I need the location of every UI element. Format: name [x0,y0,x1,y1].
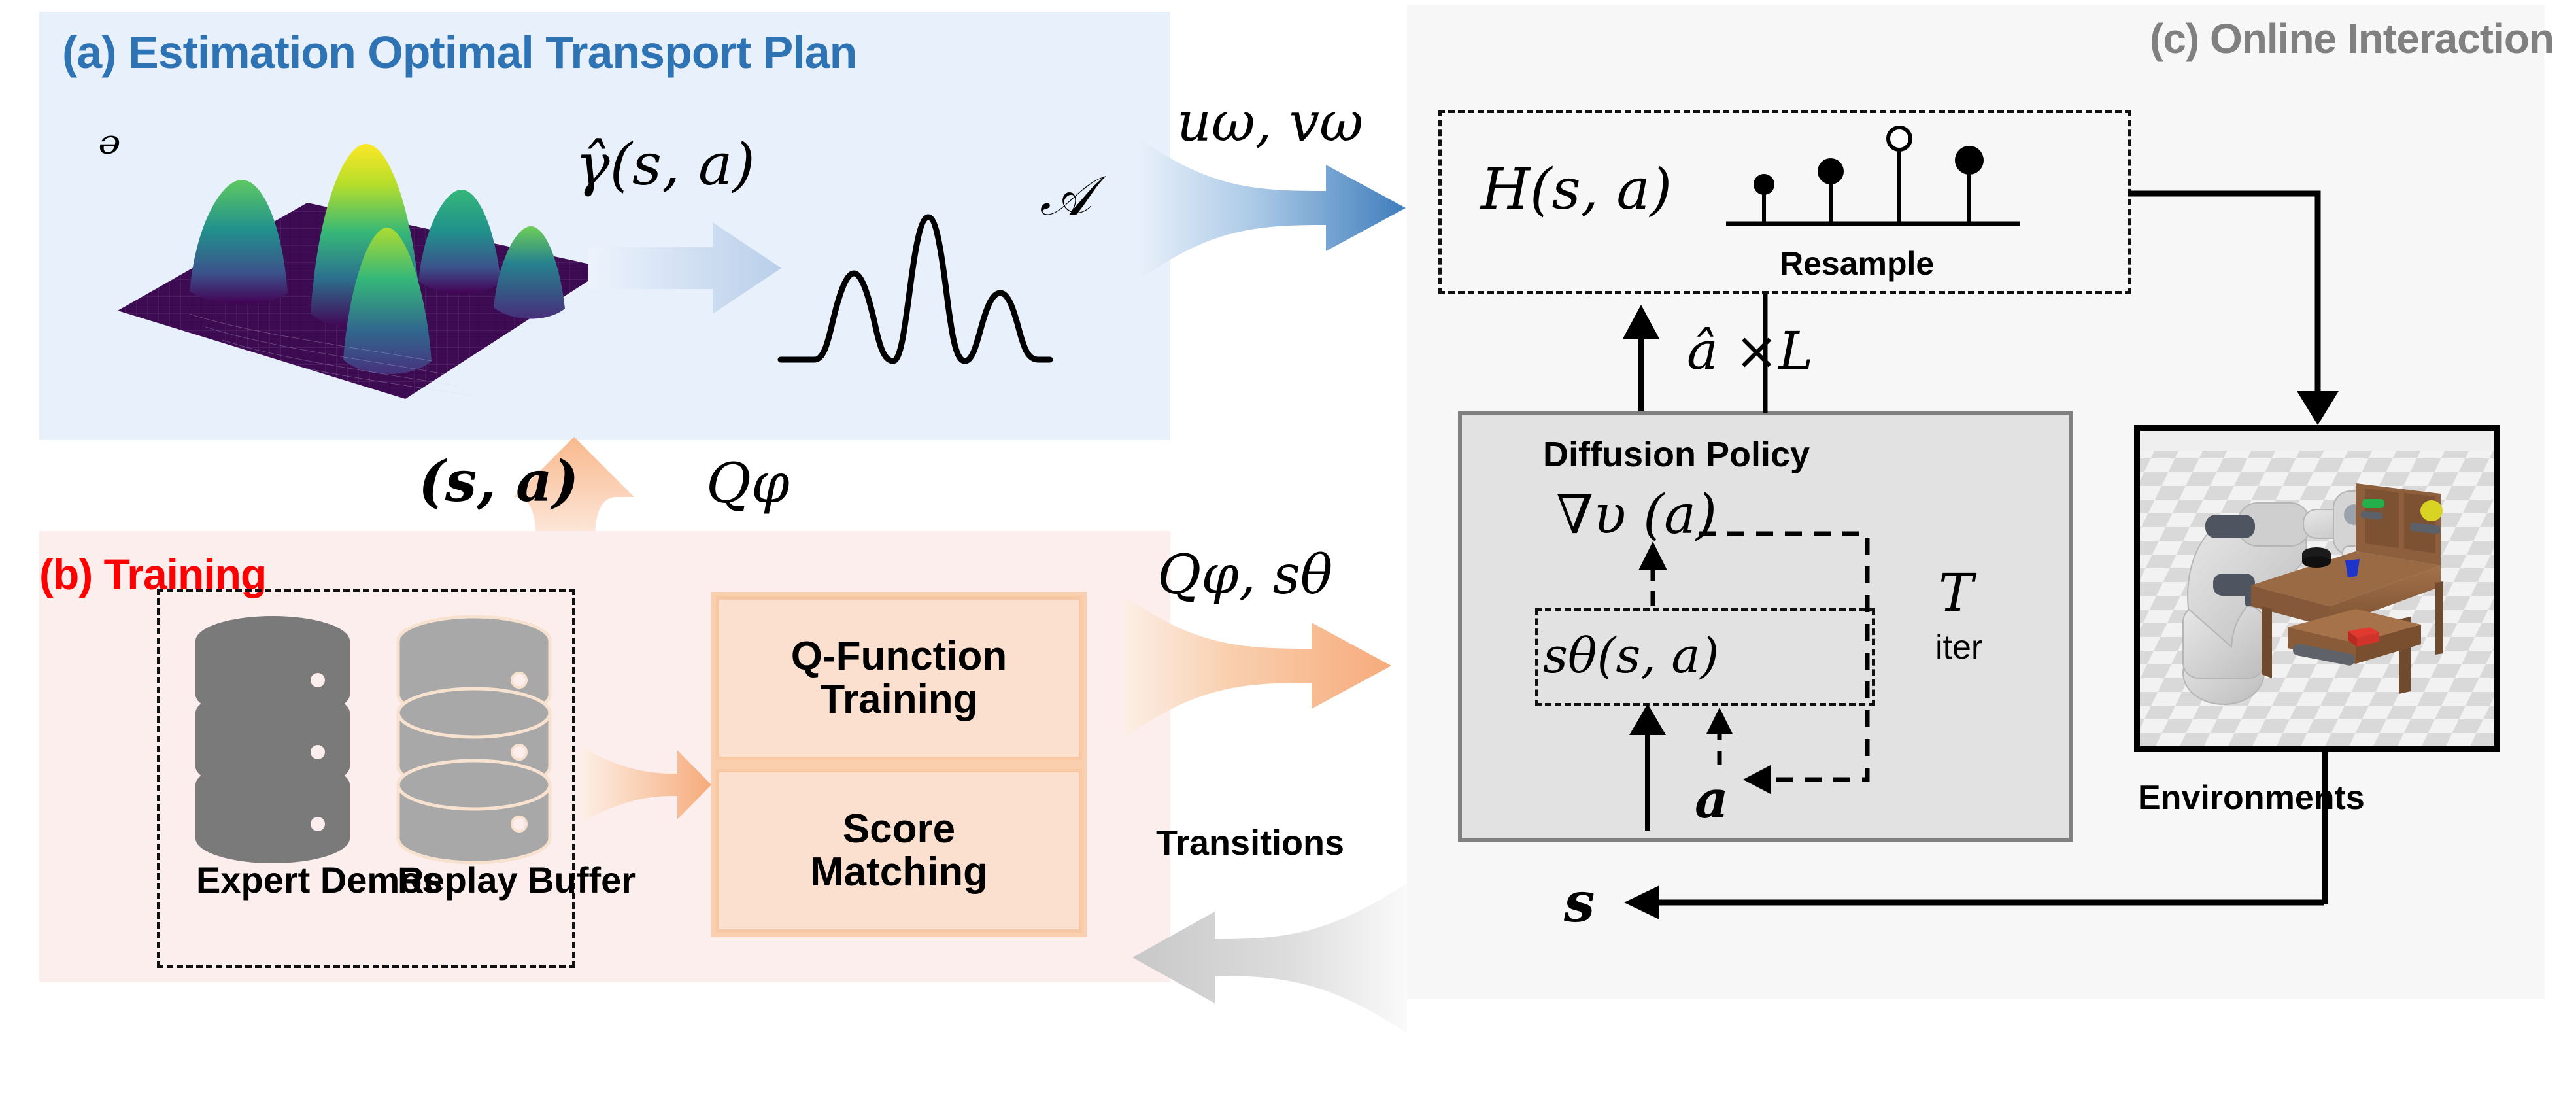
replay-buffer-label: Replay Buffer [398,860,554,901]
action-space-label: 𝒜 [1040,163,1091,228]
arrow-online-to-training [1119,863,1407,1053]
connector-env-down [2320,752,2330,904]
arrow-label-q-and-score: Qφ, sθ [1157,544,1332,606]
arrow-label-potentials: uω, vω [1177,92,1363,154]
arrow-label-transitions: Transitions [1156,823,1344,863]
diffusion-policy-title: Diffusion Policy [1543,434,1810,475]
expert-demos-label: Expert Demos [196,860,353,901]
environment-screenshot [2134,425,2500,752]
score-matching-line1: Score [810,808,988,851]
connector-resample-to-env [2128,190,2364,438]
state-action-pair-label: (s, a) [418,449,579,515]
score-matching-module[interactable]: Score Matching [716,769,1082,933]
transport-plan-label: γ̂(s, a) [575,131,755,198]
policy-internal-connectors [1530,523,2027,831]
expert-demos-icon [191,615,354,889]
arrow-env-to-state [1615,883,2328,922]
resample-caption: Resample [1780,245,1934,283]
q-function-symbol-label: Qφ [706,451,790,515]
action-batch-label: â ×L [1687,320,1813,381]
arrow-datasets-to-modules [582,736,713,834]
state-feedback-label: s [1564,870,1595,935]
optimal-transport-surface-plot [92,118,628,412]
environments-caption: Environments [2138,778,2365,817]
resample-stem-plot [1726,131,2040,249]
q-function-training-line2: Training [791,678,1008,721]
plan-to-density-arrow [588,216,785,320]
replay-buffer-label-line1: Replay Buffer [398,860,554,901]
connector-resample-to-policy [1760,294,1771,413]
expert-demos-label-line1: Expert Demos [196,860,353,901]
q-function-training-line1: Q-Function [791,635,1008,678]
arrow-action-to-resample [1615,301,1667,419]
panel-c-title: (c) Online Interaction [2150,14,2554,63]
panel-a-title: (a) Estimation Optimal Transport Plan [62,26,856,78]
score-matching-line2: Matching [810,851,988,894]
resample-formula-label: H(s, a) [1481,157,1672,222]
state-space-label: ᵊ [98,118,122,188]
replay-buffer-icon [392,615,556,889]
action-density-curve [778,196,1053,379]
q-function-training-module[interactable]: Q-Function Training [716,596,1082,760]
